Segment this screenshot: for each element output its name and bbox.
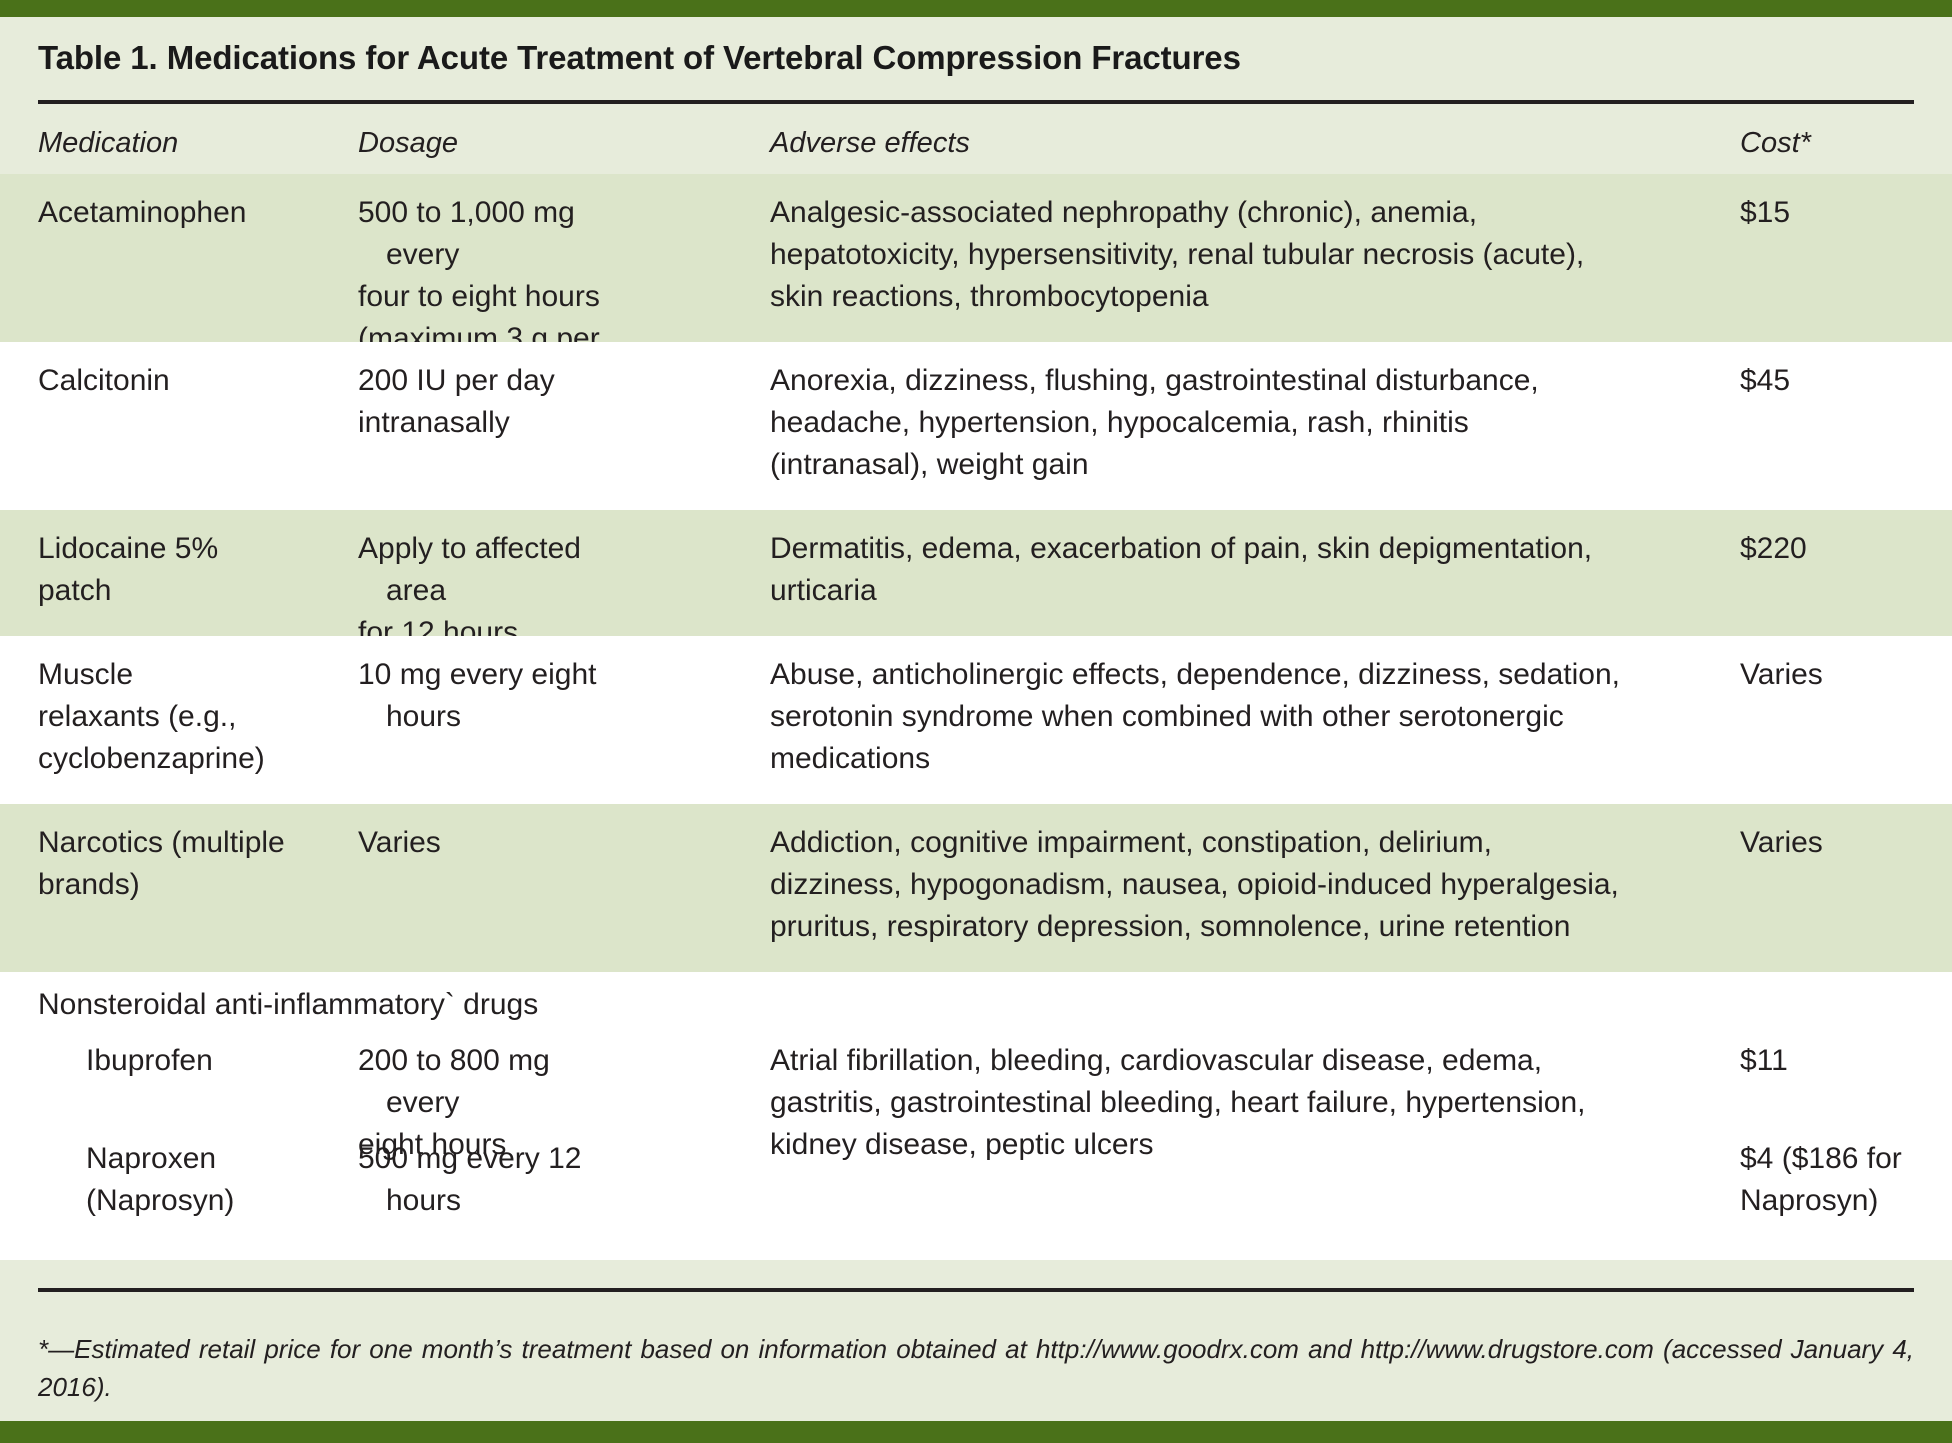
- table-row: Calcitonin200 IU per dayintranasallyAnor…: [0, 342, 1952, 510]
- cell-cost: $11: [1740, 1040, 1930, 1082]
- column-header-cost: Cost*: [1740, 127, 1930, 160]
- nsaid-group-heading: Nonsteroidal anti-inflammatory` drugs: [38, 984, 538, 1026]
- cell-dosage: 500 mg every 12 hours: [358, 1138, 618, 1222]
- table-figure: Table 1. Medications for Acute Treatment…: [0, 0, 1952, 1443]
- cell-cost: $4 ($186 forNaprosyn): [1740, 1138, 1930, 1222]
- column-header-row: Medication Dosage Adverse effects Cost*: [0, 100, 1952, 174]
- cell-adverse: Anorexia, dizziness, flushing, gastroint…: [770, 360, 1690, 486]
- cell-medication: Acetaminophen: [38, 192, 288, 234]
- cell-adverse: Abuse, anticholinergic effects, dependen…: [770, 654, 1690, 780]
- cell-adverse: Addiction, cognitive impairment, constip…: [770, 822, 1690, 948]
- title-area: Table 1. Medications for Acute Treatment…: [0, 17, 1952, 100]
- cell-medication: Musclerelaxants (e.g.,cyclobenzaprine): [38, 654, 288, 780]
- cell-adverse: Dermatitis, edema, exacerbation of pain,…: [770, 528, 1690, 612]
- table-row-group-nsaid: Nonsteroidal anti-inflammatory` drugsIbu…: [0, 972, 1952, 1260]
- cell-medication: Naproxen(Naprosyn): [62, 1138, 312, 1222]
- bottom-accent-rule: [0, 1421, 1952, 1443]
- cell-adverse: Atrial fibrillation, bleeding, cardiovas…: [770, 1040, 1690, 1166]
- header-divider-rule: [38, 100, 1914, 104]
- table-row: Lidocaine 5%patchApply to affected areaf…: [0, 510, 1952, 636]
- table-row: Musclerelaxants (e.g.,cyclobenzaprine)10…: [0, 636, 1952, 804]
- cell-adverse: Analgesic-associated nephropathy (chroni…: [770, 192, 1690, 318]
- cell-cost: Varies: [1740, 654, 1930, 696]
- cell-medication: Narcotics (multiplebrands): [38, 822, 288, 906]
- cell-medication: Calcitonin: [38, 360, 288, 402]
- table-title: Table 1. Medications for Acute Treatment…: [38, 39, 1241, 77]
- cell-medication: Lidocaine 5%patch: [38, 528, 288, 612]
- cell-dosage: 200 IU per dayintranasally: [358, 360, 618, 444]
- table-row: Acetaminophen500 to 1,000 mg everyfour t…: [0, 174, 1952, 342]
- footnote-cost-source: *—Estimated retail price for one month’s…: [38, 1330, 1914, 1406]
- table-footnotes: *—Estimated retail price for one month’s…: [0, 1260, 1952, 1421]
- cell-dosage: 10 mg every eight hours: [358, 654, 618, 738]
- top-accent-rule: [0, 0, 1952, 17]
- column-header-medication: Medication: [38, 127, 288, 160]
- cell-dosage: Varies: [358, 822, 618, 864]
- cell-medication: Ibuprofen: [62, 1040, 312, 1082]
- table-row: Narcotics (multiplebrands)VariesAddictio…: [0, 804, 1952, 972]
- cell-cost: Varies: [1740, 822, 1930, 864]
- column-header-adverse-effects: Adverse effects: [770, 127, 1690, 160]
- cell-cost: $220: [1740, 528, 1930, 570]
- footer-divider-rule: [38, 1288, 1914, 1292]
- cell-cost: $15: [1740, 192, 1930, 234]
- column-header-dosage: Dosage: [358, 127, 618, 160]
- cell-cost: $45: [1740, 360, 1930, 402]
